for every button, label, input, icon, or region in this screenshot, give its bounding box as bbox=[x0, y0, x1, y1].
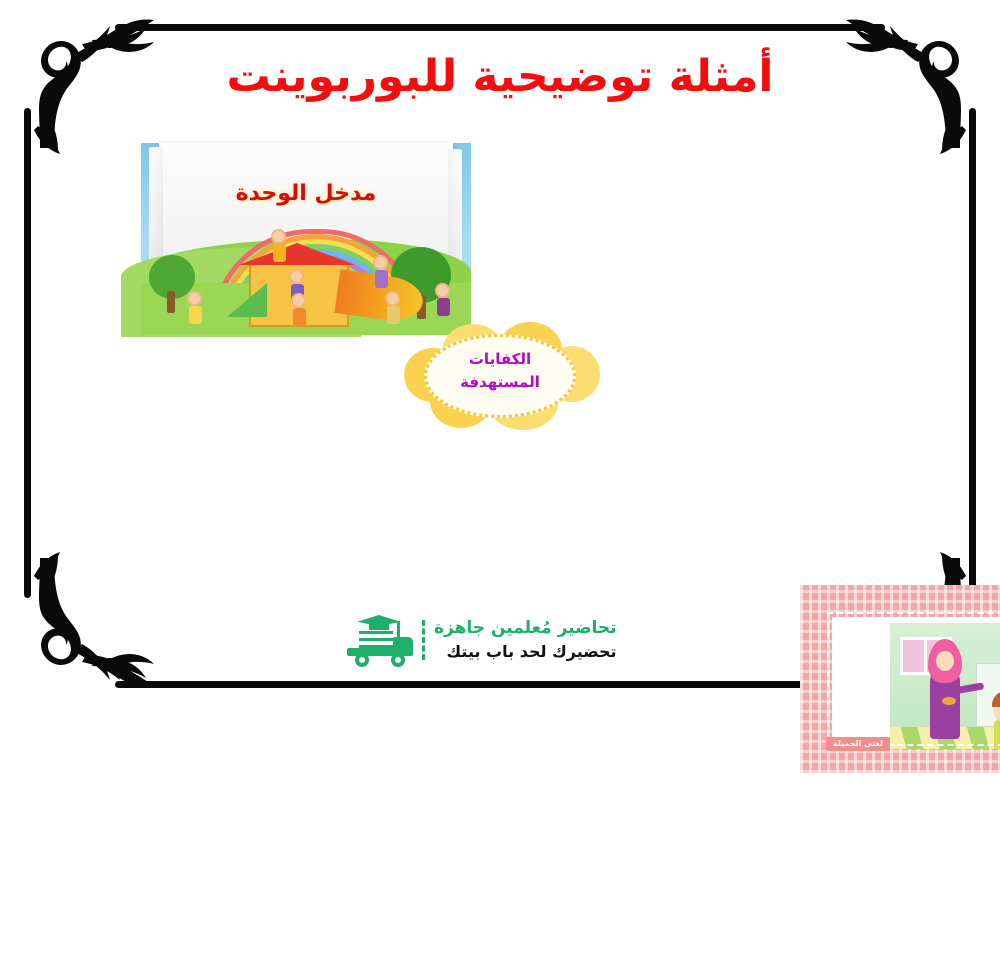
truck-wheel bbox=[391, 653, 405, 667]
child-figure bbox=[435, 283, 450, 316]
child-figure bbox=[373, 255, 388, 288]
graduation-cap-band bbox=[369, 624, 389, 630]
boy-figure-body bbox=[994, 719, 1000, 749]
graduation-cap-tassel bbox=[397, 621, 400, 637]
brand-divider bbox=[422, 620, 425, 660]
frame-line-bottom bbox=[115, 681, 885, 688]
slide-thumbnail-kitchen-scene[interactable]: لغتي الجميلة bbox=[800, 585, 1000, 773]
truck-wheel bbox=[355, 653, 369, 667]
flourish-ornament-icon bbox=[14, 552, 164, 692]
frame-line-left bbox=[24, 108, 31, 598]
brand-text-block: تحاضير مُعلمين جاهزة تحضيرك لحد باب بيتك bbox=[434, 617, 617, 663]
brand-tagline-secondary: تحضيرك لحد باب بيتك bbox=[434, 640, 617, 663]
competencies-line-2: المستهدفة bbox=[424, 371, 576, 394]
mother-figure-face bbox=[936, 651, 954, 671]
delivery-truck-icon bbox=[335, 615, 413, 665]
kitchen-illustration bbox=[890, 623, 1000, 749]
brand-tagline-primary: تحاضير مُعلمين جاهزة bbox=[434, 617, 617, 640]
child-figure bbox=[187, 291, 202, 324]
window-bar bbox=[924, 637, 927, 675]
frame-line-top bbox=[115, 24, 885, 31]
frame-line-right bbox=[969, 108, 976, 598]
competencies-line-1: الكفايات bbox=[424, 348, 576, 371]
bowl-icon bbox=[942, 697, 956, 705]
child-figure bbox=[291, 293, 306, 326]
slide-thumbnail-unit-entrance[interactable]: مدخل الوحدة bbox=[141, 143, 471, 335]
brand-footer: تحاضير مُعلمين جاهزة تحضيرك لحد باب بيتك bbox=[335, 612, 665, 668]
slide-heading-unit-entrance: مدخل الوحدة bbox=[141, 181, 471, 206]
child-figure bbox=[271, 229, 286, 262]
child-figure bbox=[385, 291, 400, 324]
tree-trunk bbox=[167, 291, 175, 313]
subject-tag: لغتي الجميلة bbox=[826, 737, 890, 751]
target-competencies-badge: الكفايات المستهدفة bbox=[398, 322, 602, 430]
page-title: أمثلة توضيحية للبوربوينت bbox=[0, 52, 1000, 103]
target-competencies-label: الكفايات المستهدفة bbox=[424, 348, 576, 393]
